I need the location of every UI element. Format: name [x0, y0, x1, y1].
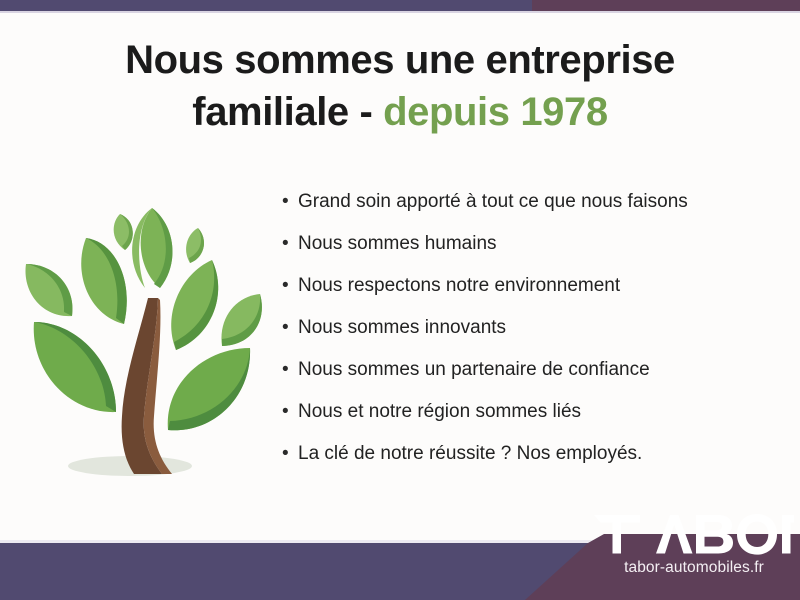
tree-leaf-upper-left	[81, 238, 127, 324]
page-title-line-1: Nous sommes une entreprise	[0, 34, 800, 86]
bullet-marker-icon: •	[282, 402, 298, 421]
list-item-label: Nous sommes un partenaire de confiance	[298, 360, 650, 379]
list-item: • Grand soin apporté à tout ce que nous …	[282, 192, 782, 234]
tree-leaf-top-small-right	[186, 228, 204, 263]
list-item-label: Nous respectons notre environnement	[298, 276, 620, 295]
tree-illustration	[12, 178, 284, 490]
page-title: Nous sommes une entreprise familiale - d…	[0, 34, 800, 138]
bullet-marker-icon: •	[282, 192, 298, 211]
bullet-marker-icon: •	[282, 276, 298, 295]
list-item-label: Nous et notre région sommes liés	[298, 402, 581, 421]
brand-wordmark	[594, 513, 794, 555]
tree-leaf-far-right	[221, 294, 261, 346]
list-item: • Nous sommes un partenaire de confiance	[282, 360, 782, 402]
bullet-marker-icon: •	[282, 360, 298, 379]
tree-leaf-top-small-left	[114, 214, 133, 250]
tree-leaf-top-center	[132, 208, 172, 288]
page-title-line-2: familiale - depuis 1978	[0, 86, 800, 138]
top-accent-bar-right	[532, 0, 800, 11]
top-accent-bar-left	[0, 0, 532, 11]
top-accent-bar	[0, 0, 800, 11]
list-item: • Nous sommes humains	[282, 234, 782, 276]
list-item-label: Nous sommes innovants	[298, 318, 506, 337]
slide-canvas: Nous sommes une entreprise familiale - d…	[0, 0, 800, 600]
bullet-marker-icon: •	[282, 444, 298, 463]
list-item: • Nous respectons notre environnement	[282, 276, 782, 318]
value-bullet-list: • Grand soin apporté à tout ce que nous …	[282, 192, 782, 486]
brand-url: tabor-automobiles.fr	[594, 559, 794, 577]
page-title-line-2-plain: familiale -	[192, 90, 383, 134]
list-item-label: La clé de notre réussite ? Nos employés.	[298, 444, 642, 463]
list-item-label: Grand soin apporté à tout ce que nous fa…	[298, 192, 688, 211]
list-item: • Nous et notre région sommes liés	[282, 402, 782, 444]
bullet-marker-icon: •	[282, 234, 298, 253]
brand-logo-panel: tabor-automobiles.fr	[518, 505, 800, 600]
tree-leaf-far-left	[25, 264, 72, 316]
list-item-label: Nous sommes humains	[298, 234, 497, 253]
tree-leaf-lower-right	[168, 348, 250, 430]
tree-leaf-upper-right	[171, 260, 218, 350]
bullet-marker-icon: •	[282, 318, 298, 337]
list-item: • La clé de notre réussite ? Nos employé…	[282, 444, 782, 486]
page-title-accent: depuis 1978	[383, 90, 608, 134]
tree-leaf-lower-left	[34, 322, 116, 412]
top-accent-hairline	[0, 11, 800, 13]
list-item: • Nous sommes innovants	[282, 318, 782, 360]
